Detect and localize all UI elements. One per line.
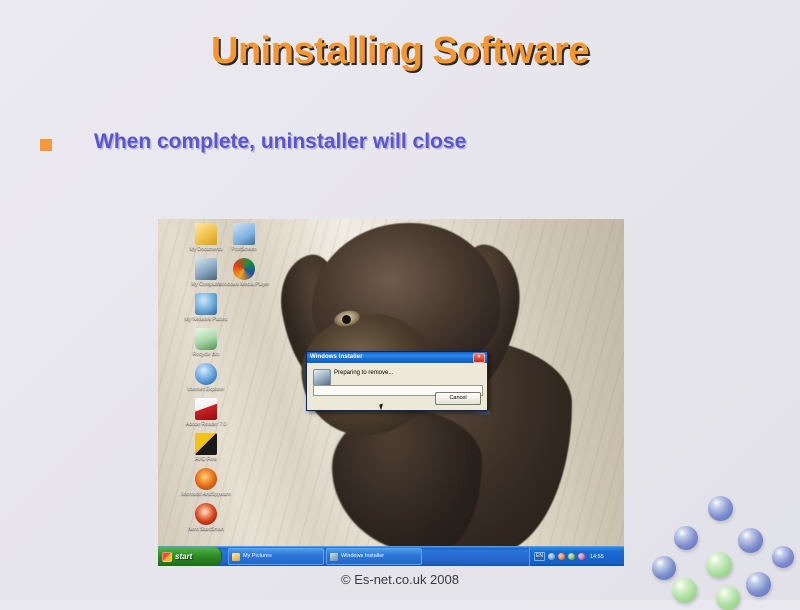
taskbar-button-my-pictures[interactable]: My Pictures <box>228 548 324 565</box>
slide-canvas: Uninstalling Software When complete, uni… <box>0 0 800 600</box>
nero-startsmart-icon <box>195 503 217 525</box>
taskbar-buttons: My Pictures Windows Installer <box>228 548 422 565</box>
icon-label: My Network Places <box>185 316 228 322</box>
windows-flag-icon <box>162 552 172 562</box>
slide-footer: © Es-net.co.uk 2008 <box>0 572 800 587</box>
desktop-icon-recycle-bin[interactable]: Recycle Bin <box>164 328 248 357</box>
taskbar: start My Pictures Windows Installer EN 1… <box>158 546 624 566</box>
decorative-sphere-1 <box>674 526 698 550</box>
embedded-screenshot: My Documents My Computer My Network Plac… <box>158 219 624 566</box>
taskbar-button-label: Windows Installer <box>341 550 384 563</box>
start-button-label: start <box>175 552 192 561</box>
icon-label: Windows Media Player <box>219 281 270 287</box>
dialog-body: Preparing to remove... Cancel <box>307 363 487 410</box>
bullet-list-item: When complete, uninstaller will close <box>40 130 740 154</box>
bullet-marker-icon <box>40 139 52 151</box>
icon-label: Recycle Bin <box>193 351 219 357</box>
prntscreen-icon <box>233 223 255 245</box>
windows-installer-dialog: Windows Installer × Preparing to remove.… <box>306 351 488 411</box>
icon-label: Adobe Reader 7.0 <box>186 421 227 427</box>
desktop-icon-nero-startsmart[interactable]: Nero StartSmart <box>164 503 248 532</box>
update-icon[interactable] <box>558 553 565 560</box>
network-icon[interactable] <box>548 553 555 560</box>
language-indicator[interactable]: EN <box>534 552 545 561</box>
icon-label: Microsoft AntiSpyware <box>181 491 230 497</box>
desktop-icon-avg-free[interactable]: AVG Free <box>164 433 248 462</box>
bullet-text: When complete, uninstaller will close <box>94 130 466 154</box>
microsoft-antispyware-icon <box>195 468 217 490</box>
dialog-title-text: Windows Installer <box>310 352 363 363</box>
folder-pictures-icon <box>232 553 240 561</box>
internet-explorer-icon <box>195 363 217 385</box>
adobe-reader-icon <box>195 398 217 420</box>
desktop-icon-column-secondary: PrntScreen Windows Media Player <box>202 223 286 293</box>
taskbar-button-label: My Pictures <box>243 550 272 563</box>
taskbar-button-windows-installer[interactable]: Windows Installer <box>326 548 422 565</box>
dialog-titlebar[interactable]: Windows Installer × <box>307 352 487 363</box>
network-places-icon <box>195 293 217 315</box>
dialog-message: Preparing to remove... <box>334 370 393 376</box>
icon-label: Internet Explorer <box>188 386 225 392</box>
decorative-sphere-8 <box>772 546 794 568</box>
icon-label: PrntScreen <box>231 246 256 252</box>
desktop-icon-windows-media-player[interactable]: Windows Media Player <box>202 258 286 287</box>
decorative-sphere-2 <box>738 528 763 553</box>
icon-label: Nero StartSmart <box>188 526 224 532</box>
avg-free-icon <box>195 433 217 455</box>
windows-media-player-icon <box>233 258 255 280</box>
decorative-sphere-7 <box>716 586 740 610</box>
icon-label: AVG Free <box>195 456 217 462</box>
antivirus-icon[interactable] <box>568 553 575 560</box>
decorative-sphere-0 <box>708 496 733 521</box>
page-title: Uninstalling Software <box>0 30 800 73</box>
system-tray: EN 14:55 <box>529 547 624 566</box>
close-icon[interactable]: × <box>473 353 485 363</box>
start-button[interactable]: start <box>158 547 222 566</box>
desktop-icon-microsoft-antispyware[interactable]: Microsoft AntiSpyware <box>164 468 248 497</box>
messenger-icon[interactable] <box>578 553 585 560</box>
taskbar-clock[interactable]: 14:55 <box>590 554 604 560</box>
desktop-icon-internet-explorer[interactable]: Internet Explorer <box>164 363 248 392</box>
installer-icon <box>330 553 338 561</box>
cancel-button[interactable]: Cancel <box>435 392 481 405</box>
recycle-bin-icon <box>195 328 217 350</box>
installer-computer-icon <box>313 369 331 386</box>
desktop-icon-adobe-reader[interactable]: Adobe Reader 7.0 <box>164 398 248 427</box>
desktop-icon-prntscreen[interactable]: PrntScreen <box>202 223 286 252</box>
desktop-icon-network-places[interactable]: My Network Places <box>164 293 248 322</box>
